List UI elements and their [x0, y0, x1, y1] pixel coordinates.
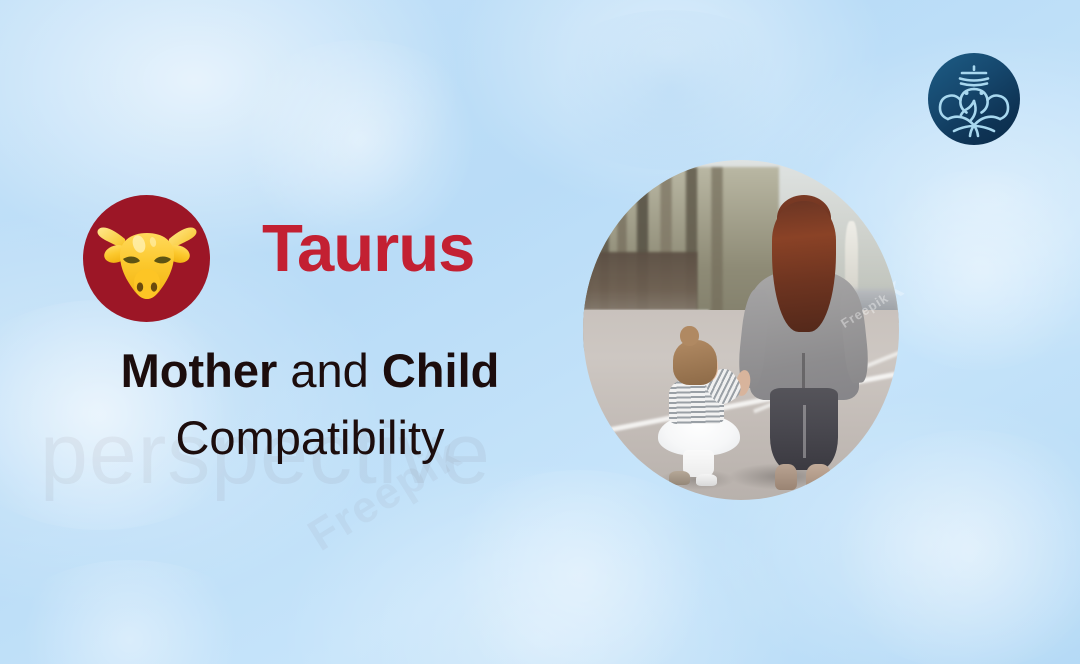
child-shoe	[696, 474, 717, 486]
subtitle-line-1: Mother and Child	[85, 345, 535, 397]
mother-leg-gap	[803, 405, 806, 458]
mother-shoe	[806, 464, 831, 493]
subtitle-line-2: Compatibility	[85, 412, 535, 464]
subtitle-child: Child	[382, 344, 499, 397]
taurus-compatibility-banner: perspective Freepik Freepik	[0, 0, 1080, 664]
mother-hair	[772, 201, 836, 333]
photo-scene: Freepik	[583, 160, 899, 500]
taurus-bull-icon	[83, 195, 210, 322]
ganesha-logo-icon[interactable]	[928, 53, 1020, 145]
subtitle-mother: Mother	[121, 344, 278, 397]
child-hair	[673, 340, 716, 385]
background-blob	[230, 40, 490, 240]
child-hair-bun	[680, 326, 698, 345]
child-shoe	[669, 471, 690, 484]
mother-shoe	[775, 464, 798, 490]
photo-child-figure	[665, 337, 735, 487]
background-blob	[540, 10, 800, 170]
subtitle-and: and	[277, 344, 382, 397]
mother-and-child-photo: Freepik	[583, 160, 899, 500]
page-title: Taurus	[262, 215, 474, 282]
background-blob	[0, 560, 260, 664]
photo-mother-figure	[747, 201, 861, 493]
